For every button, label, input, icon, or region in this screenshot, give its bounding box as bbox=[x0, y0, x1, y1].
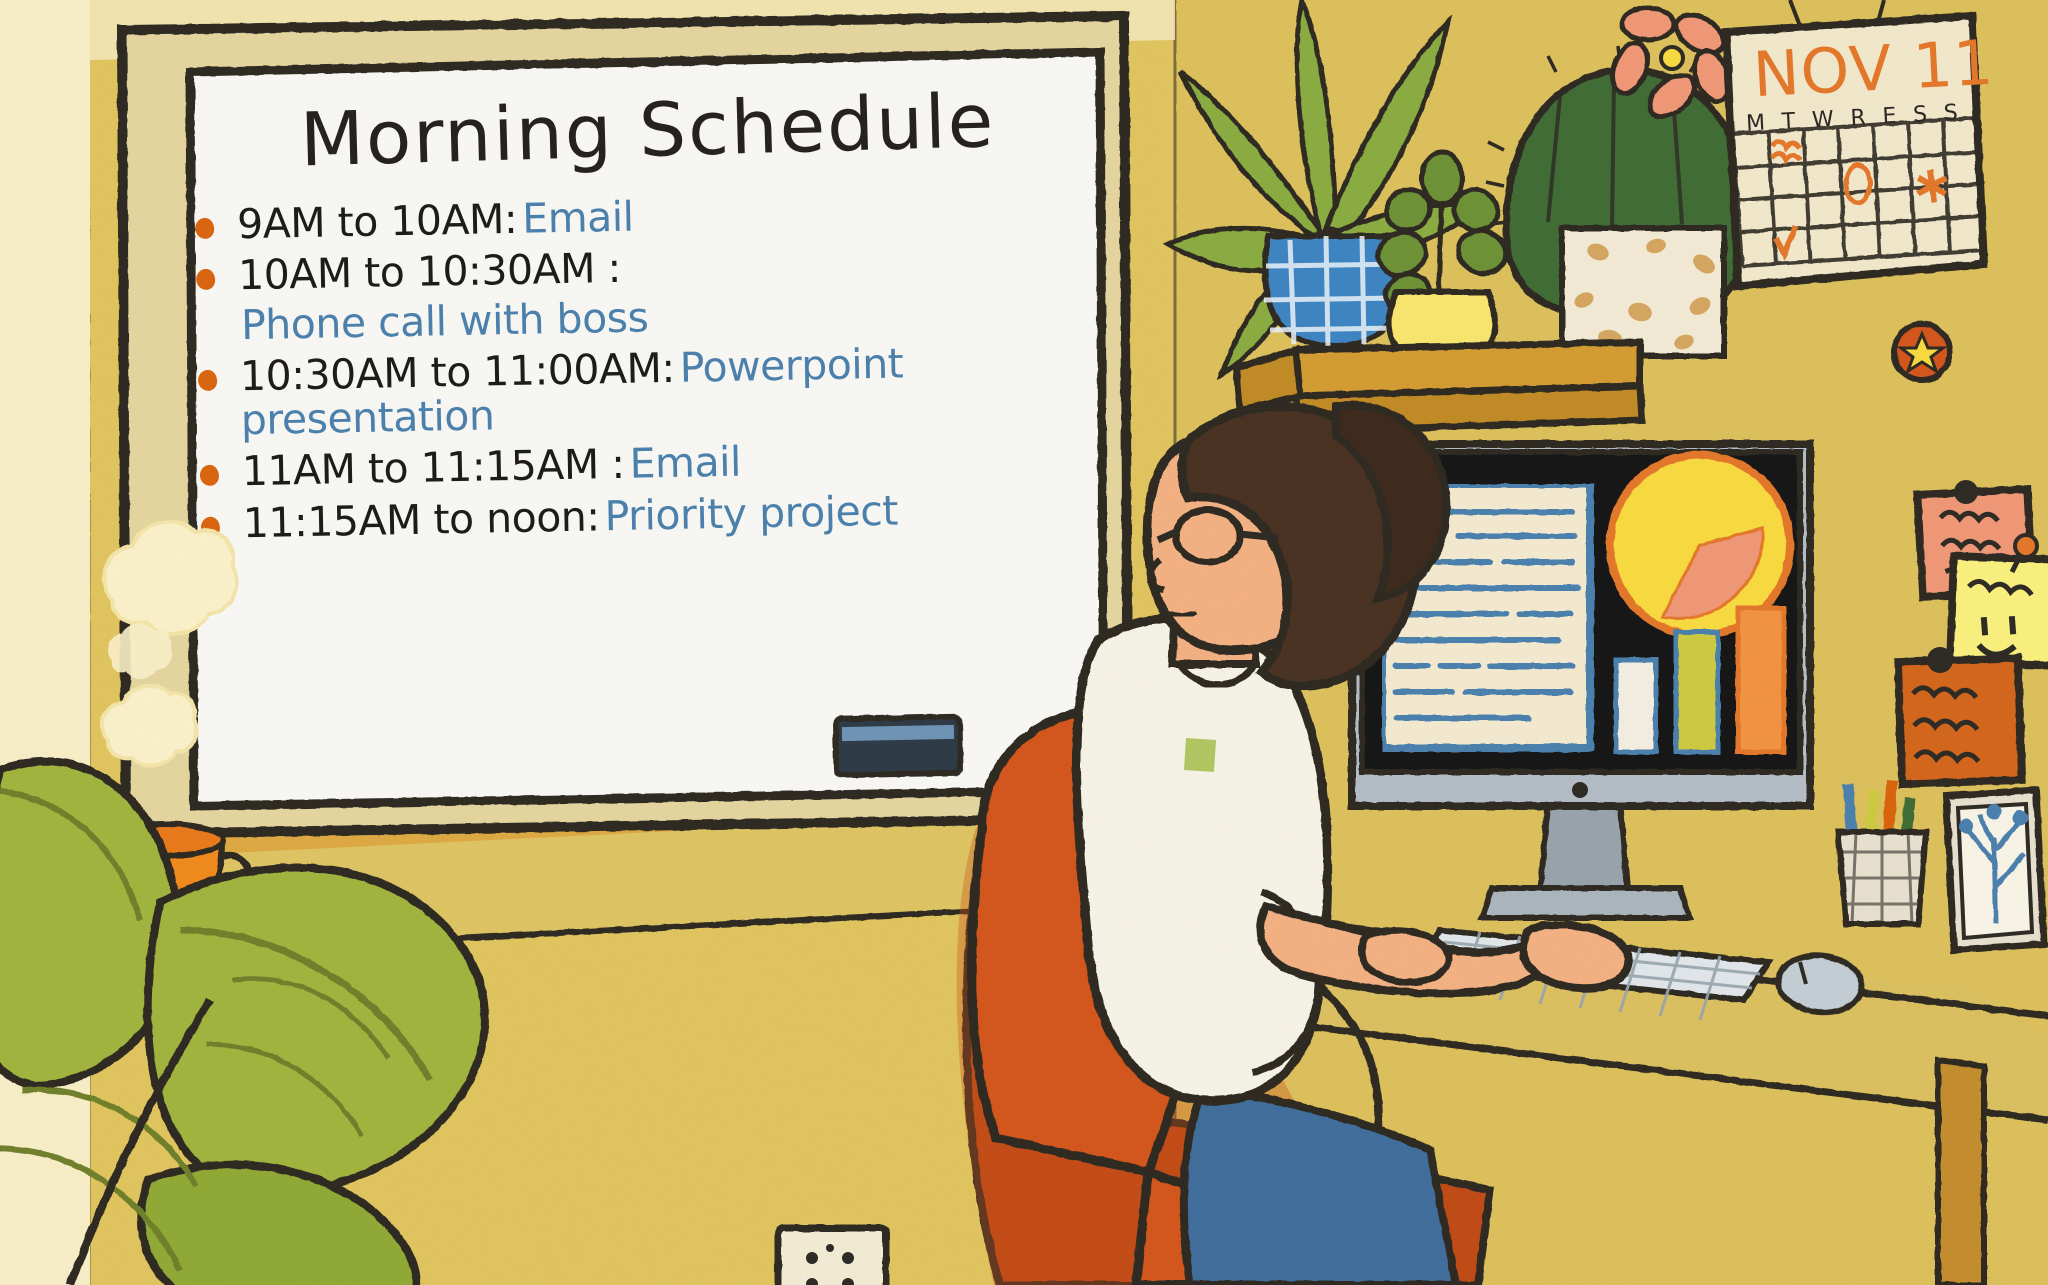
foreground-leaves bbox=[0, 761, 485, 1285]
illustration-scene: Morning Schedule 9AM to 10AM: Email 10AM… bbox=[0, 0, 2048, 1285]
foreground-plant-layer bbox=[0, 0, 2048, 1285]
